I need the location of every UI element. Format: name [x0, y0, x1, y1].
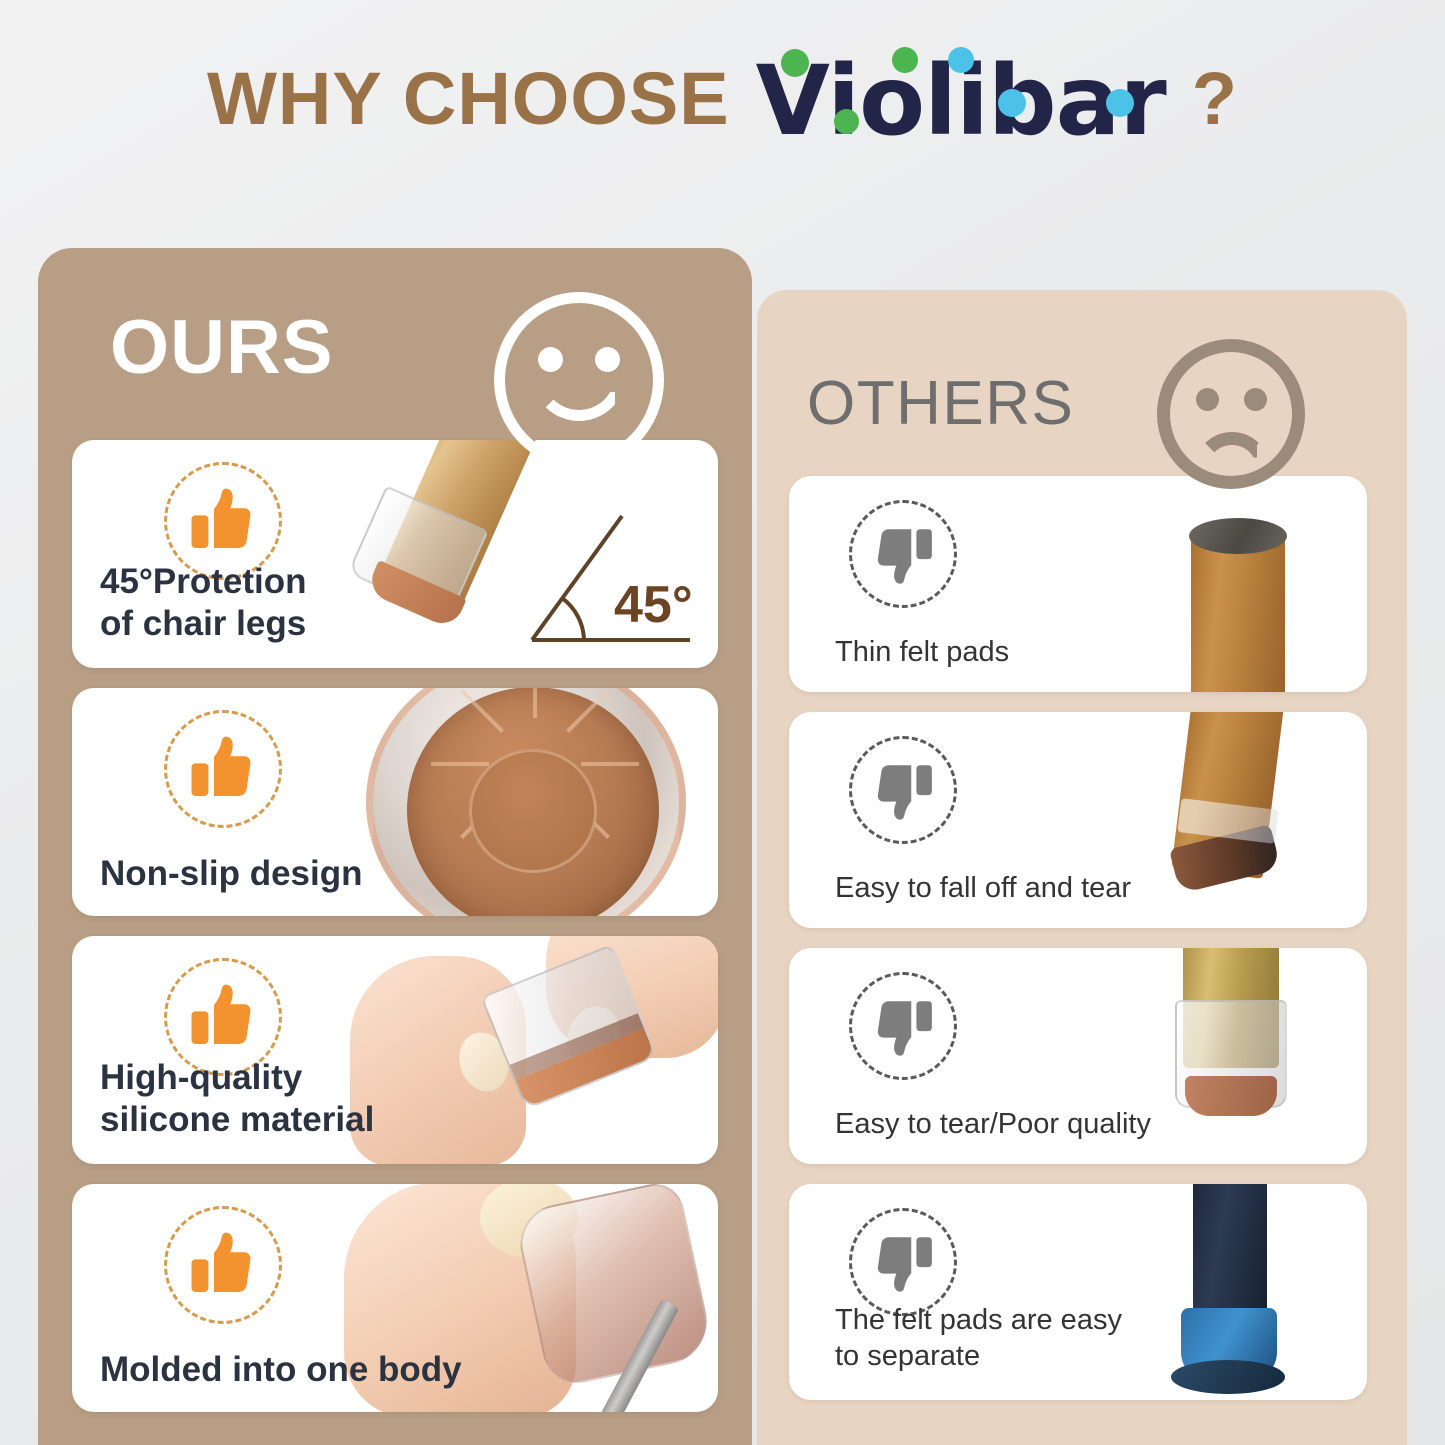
grip-rib [566, 689, 610, 733]
ours-card-3[interactable]: High-quality silicone material [72, 936, 718, 1164]
thumbs-up-icon [187, 733, 259, 805]
thumbs-down-icon [870, 993, 936, 1059]
others-card-3[interactable]: Easy to tear/Poor quality [789, 948, 1367, 1164]
cork-tip-shape [1185, 1076, 1277, 1116]
logo-dot-green-v [781, 49, 809, 77]
thumbs-up-icon [187, 1229, 259, 1301]
headline-prefix: WHY CHOOSE [207, 56, 730, 141]
others-card-1-label: Thin felt pads [835, 635, 1009, 670]
wooden-leg-felt-pad-photo [1133, 494, 1343, 692]
thumbs-up-icon [187, 981, 259, 1053]
logo-dot-cyan-l2 [948, 47, 974, 73]
ours-card-1-label: 45°Protetion of chair legs [100, 561, 307, 646]
ours-card-2-label: Non-slip design [100, 853, 363, 896]
logo-dot-green-l1 [892, 47, 918, 73]
ours-card-4-label: Molded into one body [100, 1349, 462, 1392]
thumbs-up-icon [187, 485, 259, 557]
thumbs-down-badge-2 [849, 736, 957, 844]
others-panel-title: OTHERS [807, 368, 1074, 439]
others-card-1[interactable]: Thin felt pads [789, 476, 1367, 692]
silicone-cap-interior-photo [320, 688, 718, 916]
grip-rib [533, 688, 537, 718]
cap-outer-rim [366, 688, 686, 916]
others-card-4[interactable]: The felt pads are easy to separate [789, 1184, 1367, 1400]
thumbs-up-badge-2 [164, 710, 282, 828]
others-card-2[interactable]: Easy to fall off and tear [789, 712, 1367, 928]
thumbs-down-icon [870, 521, 936, 587]
cap-center-circle [469, 749, 597, 873]
headline: WHY CHOOSE Violibar ? [207, 49, 1238, 147]
thumbs-down-badge-3 [849, 972, 957, 1080]
thumbs-up-badge-4 [164, 1206, 282, 1324]
squeezed-silicone-cap-shape [513, 1184, 715, 1389]
logo-dot-cyan-b [998, 89, 1026, 117]
logo-dot-green-o [834, 109, 859, 134]
angle-45-diagram: 45° [518, 506, 704, 656]
happy-mouth [532, 369, 626, 421]
wooden-leg-torn-pad-photo [1119, 712, 1349, 928]
angle-45-label: 45° [614, 576, 693, 634]
ours-card-2[interactable]: Non-slip design [72, 688, 718, 916]
smiley-sad-face-icon [1157, 339, 1305, 489]
grip-rib [431, 762, 489, 766]
sad-eye-right [1244, 388, 1267, 411]
cap-inner-surface [407, 688, 659, 916]
sad-mouth [1194, 432, 1270, 472]
thumbs-down-icon [870, 757, 936, 823]
metal-leg-shape [1193, 1184, 1267, 1328]
thumbs-down-badge-1 [849, 500, 957, 608]
wood-leg-shape [1191, 536, 1285, 692]
logo-dot-cyan-r [1106, 89, 1134, 117]
headline-question-mark: ? [1192, 56, 1238, 141]
bamboo-chair-leg-photo: 45° [298, 440, 718, 668]
smiley-happy-face-icon [494, 292, 664, 468]
thumbs-down-badge-4 [849, 1208, 957, 1316]
others-card-4-label: The felt pads are easy to separate [835, 1303, 1122, 1374]
grip-rib [460, 689, 504, 733]
brand-logo: Violibar [756, 53, 1166, 151]
ours-card-3-label: High-quality silicone material [100, 1057, 374, 1142]
thumbs-down-icon [870, 1229, 936, 1295]
felt-pad-shape [1189, 518, 1287, 554]
blue-metal-leg-photo [1123, 1184, 1343, 1400]
grip-rib [581, 762, 639, 766]
others-card-3-label: Easy to tear/Poor quality [835, 1107, 1151, 1142]
others-card-2-label: Easy to fall off and tear [835, 871, 1131, 906]
page-header: WHY CHOOSE Violibar ? [0, 0, 1445, 232]
ours-panel-title: OURS [110, 304, 334, 391]
sad-eye-left [1196, 388, 1219, 411]
separating-felt-pad-shape [1171, 1360, 1285, 1394]
ours-card-1[interactable]: 45° 45°Protetion of chair legs [72, 440, 718, 668]
ours-card-4[interactable]: Molded into one body [72, 1184, 718, 1412]
hands-holding-silicone-cap-photo [332, 936, 718, 1164]
wooden-leg-split-cap-photo [1121, 948, 1351, 1164]
